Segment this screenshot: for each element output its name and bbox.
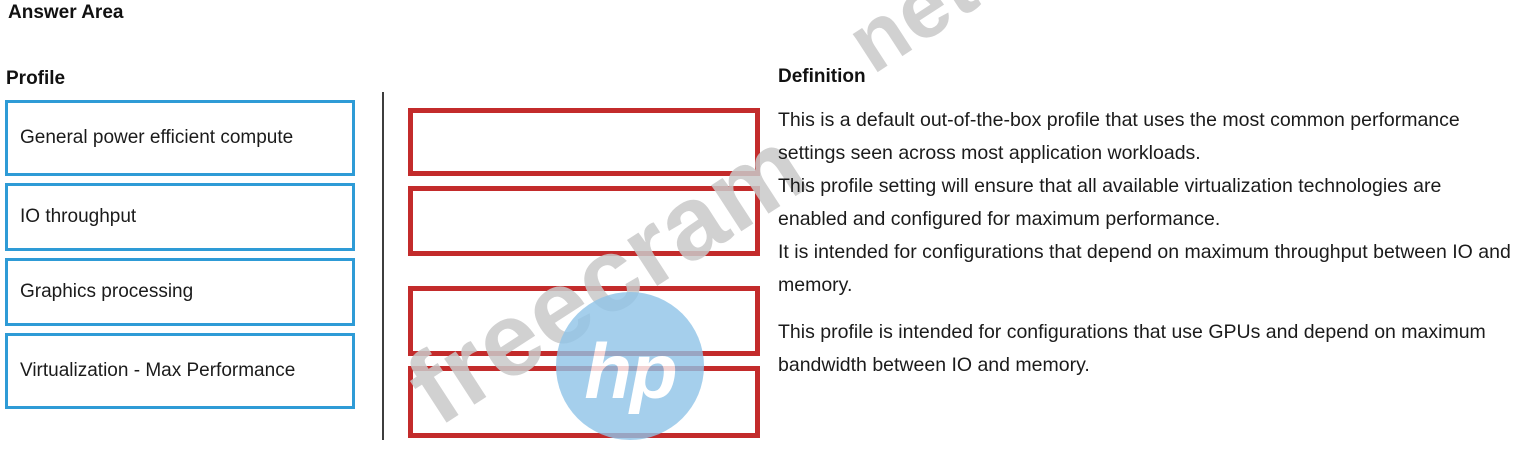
- profile-item-general-power-efficient-compute[interactable]: General power efficient compute: [5, 100, 355, 176]
- definition-item-2: This profile setting will ensure that al…: [778, 170, 1512, 236]
- definition-item-1: This is a default out-of-the-box profile…: [778, 104, 1512, 170]
- answer-area-screen: net freecram hp Answer Area Profile Defi…: [0, 0, 1518, 452]
- drop-target-3[interactable]: [408, 286, 760, 356]
- definition-list: This is a default out-of-the-box profile…: [778, 104, 1512, 382]
- page-title: Answer Area: [8, 2, 123, 24]
- profile-item-label: General power efficient compute: [20, 124, 293, 152]
- drop-target-4[interactable]: [408, 366, 760, 438]
- drop-target-list: [408, 108, 760, 438]
- column-divider: [382, 92, 384, 440]
- definition-item-4: This profile is intended for configurati…: [778, 316, 1512, 382]
- profile-item-label: IO throughput: [20, 203, 136, 231]
- drop-target-2[interactable]: [408, 186, 760, 256]
- profile-list: General power efficient compute IO throu…: [5, 100, 355, 416]
- definition-item-3: It is intended for configurations that d…: [778, 236, 1512, 302]
- profile-item-graphics-processing[interactable]: Graphics processing: [5, 258, 355, 326]
- profile-column-header: Profile: [6, 68, 65, 90]
- drop-target-1[interactable]: [408, 108, 760, 176]
- profile-item-label: Graphics processing: [20, 278, 193, 306]
- profile-item-io-throughput[interactable]: IO throughput: [5, 183, 355, 251]
- definition-column-header: Definition: [778, 66, 866, 88]
- profile-item-virtualization-max-performance[interactable]: Virtualization - Max Performance: [5, 333, 355, 409]
- profile-item-label: Virtualization - Max Performance: [20, 357, 295, 385]
